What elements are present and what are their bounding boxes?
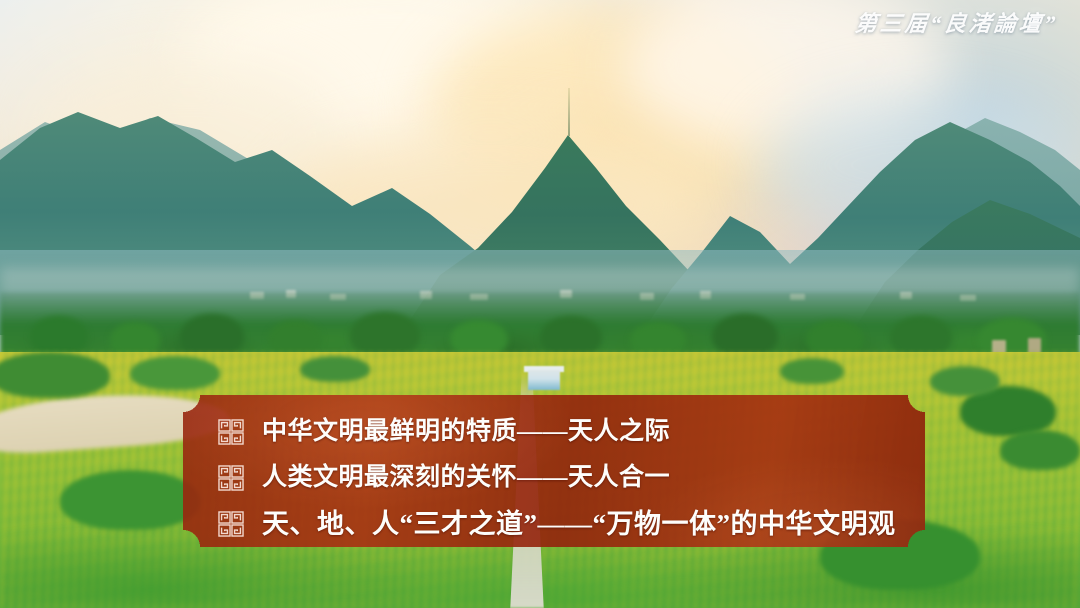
banner-line: 天、地、人“三才之道”——“万物一体”的中华文明观 [183, 501, 925, 547]
event-watermark: 第三届“良渚論壇” [854, 10, 1060, 38]
bush [130, 356, 220, 390]
bush [1000, 430, 1080, 470]
bush [780, 358, 844, 384]
bush [0, 352, 110, 398]
chinese-key-fret-icon [218, 419, 244, 445]
slide-canvas: 第三届“良渚論壇” 中华文明最鲜明的特质——天人之际 [0, 0, 1080, 608]
chinese-key-fret-icon [218, 465, 244, 491]
pavilion [528, 370, 560, 390]
banner-line: 中华文明最鲜明的特质——天人之际 [183, 409, 925, 455]
banner-line-text: 天、地、人“三才之道”——“万物一体”的中华文明观 [262, 509, 896, 539]
mountain-tower [568, 88, 570, 136]
bush [930, 366, 1000, 396]
banner-line-text: 人类文明最深刻的关怀——天人合一 [262, 463, 670, 493]
banner-line-text: 中华文明最鲜明的特质——天人之际 [262, 417, 670, 447]
chinese-key-fret-icon [218, 511, 244, 537]
bush [60, 470, 200, 530]
quote-banner: 中华文明最鲜明的特质——天人之际 人类文明最深刻的关怀——天人合一 [183, 395, 925, 547]
banner-line: 人类文明最深刻的关怀——天人合一 [183, 455, 925, 501]
tree [30, 316, 88, 356]
bush [300, 356, 370, 382]
